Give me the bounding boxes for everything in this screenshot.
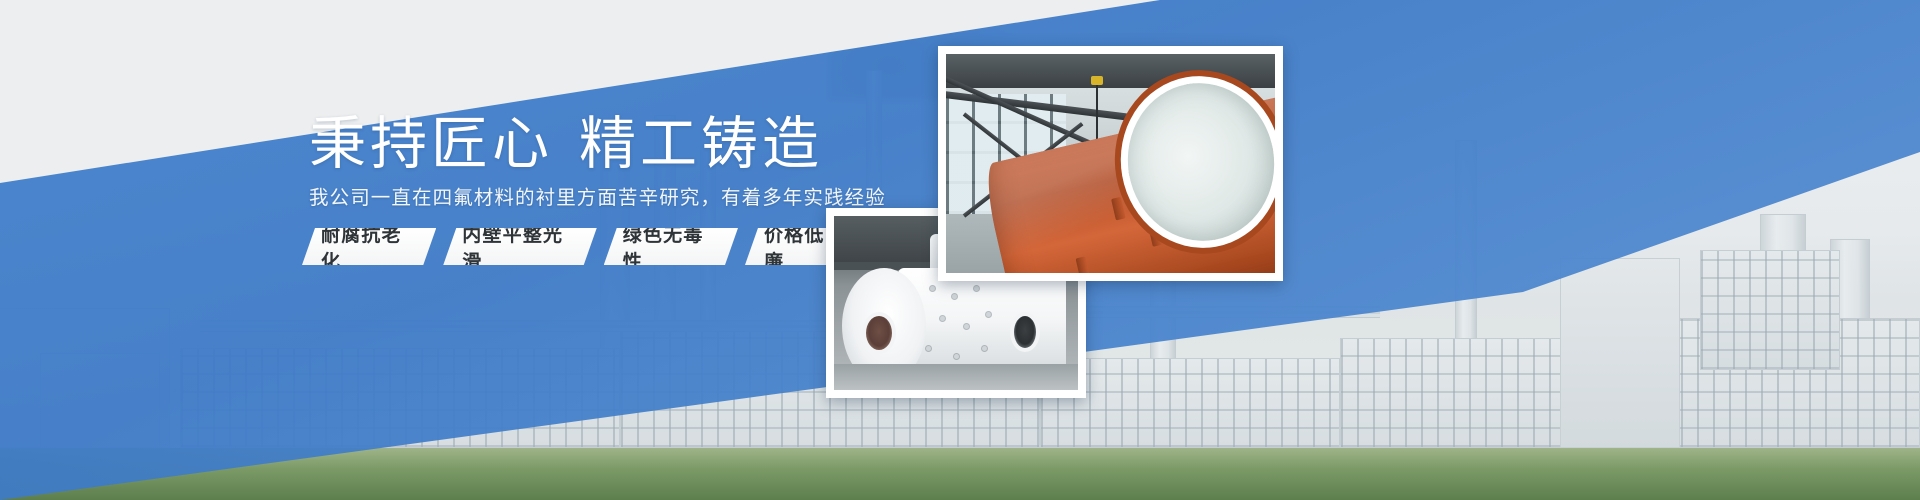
page-subtitle: 我公司一直在四氟材料的衬里方面苦辛研究，有着多年实践经验 <box>309 183 886 212</box>
headline-part-1: 秉持匠心 <box>309 111 553 177</box>
tank-stud <box>986 312 991 317</box>
hoist-hook <box>1091 76 1103 85</box>
feature-tag-label: 绿色无毒性 <box>623 220 719 274</box>
reactor-nozzle <box>1076 256 1091 273</box>
copy-block: 秉持匠心精工铸造 我公司一直在四氟材料的衬里方面苦辛研究，有着多年实践经验 耐腐… <box>0 0 860 500</box>
feature-tag-smooth-wall[interactable]: 内壁平整光滑 <box>443 228 596 265</box>
page-title: 秉持匠心精工铸造 <box>309 113 823 177</box>
fabrication-shop-scene <box>946 54 1275 273</box>
tank-stud <box>964 324 969 329</box>
structural-frame <box>1700 250 1840 370</box>
tank-stud <box>982 346 987 351</box>
tank-stud <box>930 286 935 291</box>
hero-banner: 秉持匠心精工铸造 我公司一直在四氟材料的衬里方面苦辛研究，有着多年实践经验 耐腐… <box>0 0 1920 500</box>
tank-stud <box>926 346 931 351</box>
feature-tag-nontoxic[interactable]: 绿色无毒性 <box>604 228 738 265</box>
tank-stud <box>952 294 957 299</box>
product-photo-reactor <box>946 54 1275 273</box>
tank-stud <box>940 316 945 321</box>
tank-stud <box>974 286 979 291</box>
headline-part-2: 精工铸造 <box>579 111 823 177</box>
tank-manhole-side <box>1010 312 1040 352</box>
feature-tag-label: 内壁平整光滑 <box>462 220 577 274</box>
tank-stud <box>954 354 959 359</box>
feature-tag-label: 耐腐抗老化 <box>321 220 417 274</box>
workshop-floor <box>834 364 1078 390</box>
tank-manhole-front <box>862 312 896 354</box>
feature-tag-list: 耐腐抗老化 内壁平整光滑 绿色无毒性 价格低廉 <box>302 228 860 265</box>
feature-tag-anticorrosion[interactable]: 耐腐抗老化 <box>302 228 436 265</box>
reactor-nozzle <box>1111 197 1126 221</box>
product-photo-card-reactor[interactable] <box>938 46 1283 281</box>
